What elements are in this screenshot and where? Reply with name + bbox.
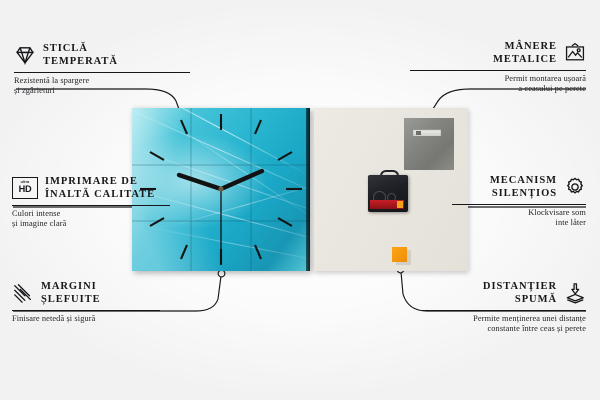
feature-title-line1: MARGINI — [41, 280, 101, 293]
feature-subtitle-line2: a ceasului pe perete — [410, 84, 586, 94]
feature-title-line2: SILENȚIOS — [490, 187, 557, 200]
feature-subtitle-line1: Finisare netedă și sigură — [12, 314, 160, 324]
infographic-canvas: STICLĂ TEMPERATĂ Rezistentă la spargere … — [0, 0, 600, 400]
hands-hub — [218, 186, 223, 191]
feature-subtitle-line1: Culori intense — [12, 209, 170, 219]
ultra-hd-badge-icon: ultra HD — [12, 177, 38, 199]
feature-subtitle-line1: Permite menținerea unei distanțe — [422, 314, 586, 324]
feature-title-line2: TEMPERATĂ — [43, 55, 118, 68]
feature-underline — [452, 204, 586, 205]
hour-hand — [221, 171, 262, 189]
feature-subtitle-line2: constante între ceas și perete — [422, 324, 586, 334]
stacked-layers-down-arrow-icon — [564, 282, 586, 304]
feature-title-line2: ȘLEFUITE — [41, 293, 101, 306]
feature-title-line1: MECANISM — [490, 174, 557, 187]
feature-polished-edges: MARGINI ȘLEFUITE Finisare netedă și sigu… — [12, 280, 160, 324]
wire-endpoint-polished-edges — [218, 270, 225, 277]
badge-hd-label: HD — [19, 185, 32, 194]
movement-body — [368, 175, 408, 212]
feature-underline — [14, 72, 190, 73]
feature-title-line1: STICLĂ — [43, 42, 118, 55]
hanger-slot — [413, 129, 441, 136]
feature-title-line2: ÎNALTĂ CALITATE — [45, 188, 155, 201]
minute-hand — [179, 175, 221, 189]
foam-spacer-square — [392, 247, 407, 262]
feature-foam-spacer: DISTANȚIER SPUMĂ Permite menținerea unei… — [422, 280, 586, 334]
feature-subtitle-line2: inte låter — [452, 218, 586, 228]
battery-label — [370, 200, 404, 209]
picture-frame-hanger-icon — [564, 42, 586, 64]
clock-movement — [368, 170, 408, 212]
gear-icon — [564, 176, 586, 198]
polished-edges-icon — [12, 282, 34, 304]
feature-title-line1: DISTANȚIER — [483, 280, 557, 293]
feature-title-line1: IMPRIMARE DE — [45, 175, 155, 188]
feature-subtitle-line1: Rezistentă la spargere — [14, 76, 190, 86]
diamond-icon — [14, 44, 36, 66]
feature-subtitle-line1: Permit montarea ușoară — [410, 74, 586, 84]
feature-subtitle-line1: Klockvisare som — [452, 208, 586, 218]
feature-underline — [12, 205, 170, 206]
feature-silent-mechanism: MECANISM SILENȚIOS Klockvisare som inte … — [452, 174, 586, 228]
feature-title-line2: SPUMĂ — [483, 293, 557, 306]
feature-underline — [12, 310, 160, 311]
feature-underline — [422, 310, 586, 311]
feature-high-quality-print: ultra HD IMPRIMARE DE ÎNALTĂ CALITATE Cu… — [12, 175, 170, 229]
feature-metal-handles: MÂNERE METALICE Permit montarea ușoară a… — [410, 40, 586, 94]
feature-title-line1: MÂNERE — [493, 40, 557, 53]
feature-subtitle-line2: și imagine clară — [12, 219, 170, 229]
metal-hanger — [404, 118, 454, 170]
feature-subtitle-line2: și zgârieturi — [14, 86, 190, 96]
feature-title-line2: METALICE — [493, 53, 557, 66]
feature-tempered-glass: STICLĂ TEMPERATĂ Rezistentă la spargere … — [14, 42, 190, 96]
feature-underline — [410, 70, 586, 71]
